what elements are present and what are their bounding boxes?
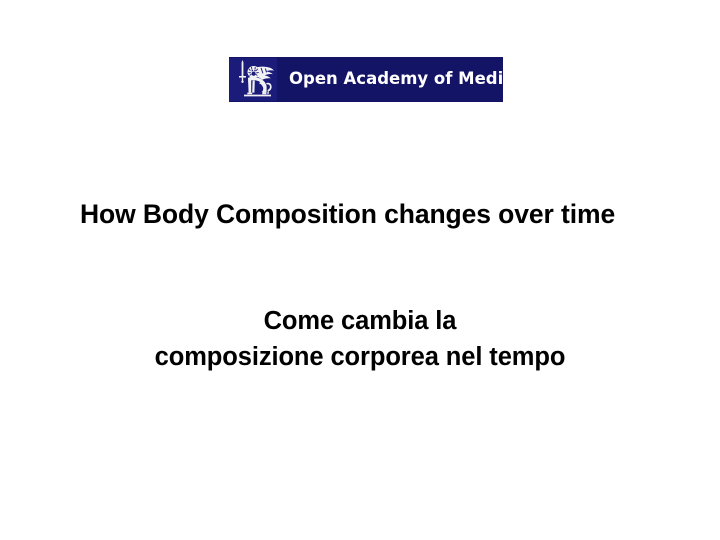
organization-name: Open Academy of Medicine [289, 71, 542, 89]
subtitle-line-2: composizione corporea nel tempo [0, 339, 720, 375]
presentation-slide: Open Academy of Medicine How Body Compos… [0, 0, 720, 540]
page-title: How Body Composition changes over time [80, 199, 680, 229]
subtitle: Come cambia la composizione corporea nel… [0, 303, 720, 375]
winged-lion-with-sword-icon [229, 58, 277, 101]
organization-logo-banner: Open Academy of Medicine [229, 57, 503, 102]
subtitle-line-1: Come cambia la [0, 303, 720, 339]
